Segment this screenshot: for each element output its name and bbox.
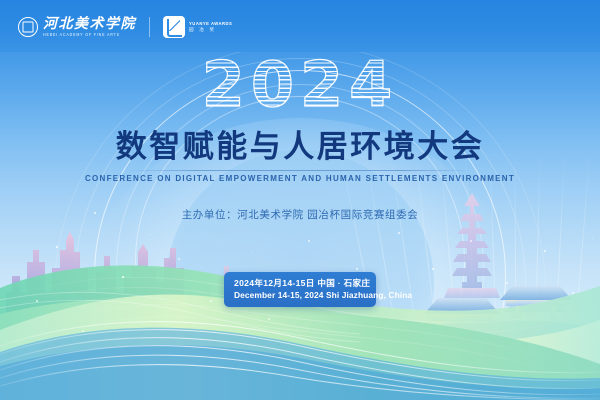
yuanye-mark-icon [163,16,185,38]
academy-seal-icon [18,17,38,37]
conference-poster: 河北美术学院 HEBEI ACADEMY OF FINE ARTS YUANYE… [0,0,600,400]
water-patch [398,320,600,372]
yuanye-name-cn: 园 冶 奖 [189,27,232,33]
logo-hebei-academy[interactable]: 河北美术学院 HEBEI ACADEMY OF FINE ARTS [18,17,136,38]
logo-divider [149,17,150,37]
logo-row: 河北美术学院 HEBEI ACADEMY OF FINE ARTS YUANYE… [18,13,232,41]
organizer-line: 主办单位：河北美术学院 园冶杯国际竞赛组委会 [0,207,600,223]
conference-title-en: CONFERENCE ON DIGITAL EMPOWERMENT AND HU… [0,173,600,185]
yuanye-name-en: YUANYE AWARDS [189,21,232,27]
logo-yuanye-awards[interactable]: YUANYE AWARDS 园 冶 奖 [163,16,232,38]
hill-front-stripes [0,305,600,386]
date-location-en: December 14-15, 2024 Shi Jiazhuang, Chin… [234,289,366,301]
traditional-gate-silhouette [424,286,572,358]
academy-name-cn: 河北美术学院 [43,17,136,32]
hill-front [0,295,600,400]
hill-mid [0,299,600,400]
date-location-badge: 2024年12月14-15日 中国 · 石家庄 December 14-15, … [224,272,376,307]
blue-line-waves [0,292,600,400]
date-location-cn: 2024年12月14-15日 中国 · 石家庄 [234,277,366,289]
academy-name-en: HEBEI ACADEMY OF FINE ARTS [43,31,136,38]
year-headline: 2024 [0,54,600,116]
conference-title-cn: 数智赋能与人居环境大会 [0,128,600,166]
title-divider [128,170,472,171]
